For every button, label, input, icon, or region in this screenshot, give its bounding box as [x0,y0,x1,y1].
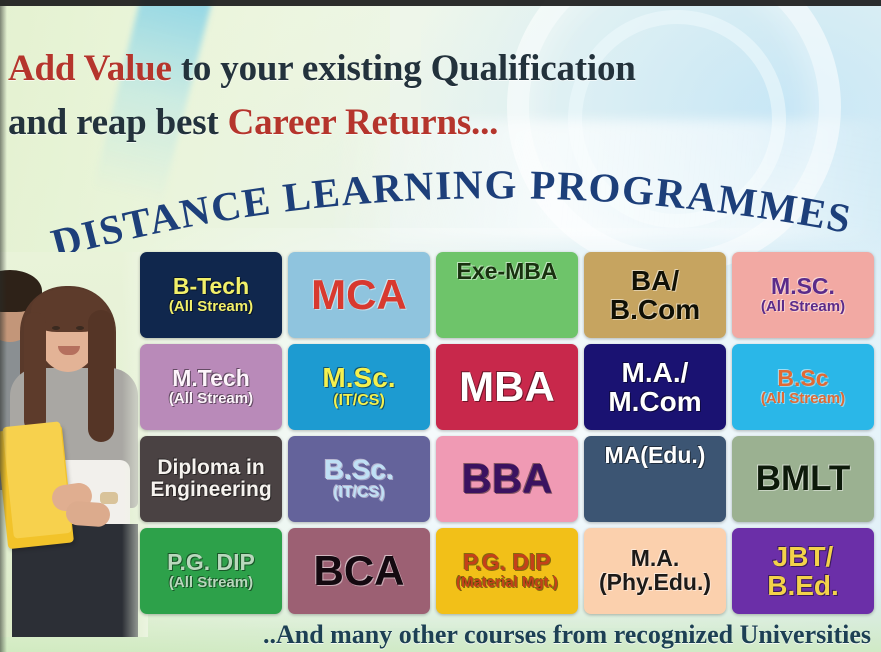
course-tile-subtitle: (IT/CS) [333,485,385,502]
photo-yellow-folder-top [2,421,71,538]
course-tile[interactable]: BA/B.Com [584,252,726,338]
course-tile-title: B.Sc. [324,456,394,485]
course-tile-grid: B-Tech(All Stream)MCAExe-MBABA/B.ComM.SC… [140,252,874,614]
photo-woman-hair-right [88,310,114,442]
course-tile[interactable]: BMLT [732,436,874,522]
course-tile-title: M.SC. [771,275,835,298]
course-tile-title: JBT/ [773,542,834,571]
course-tile[interactable]: MBA [436,344,578,430]
course-tile-title: MCA [311,274,407,317]
course-tile-title: M.A. [631,547,680,571]
course-tile[interactable]: BBA [436,436,578,522]
course-tile-subtitle: (All Stream) [761,299,845,315]
course-tile-subtitle: (All Stream) [169,391,253,407]
course-tile[interactable]: MA(Edu.) [584,436,726,522]
course-tile-title: B-Tech [173,275,249,298]
course-tile[interactable]: B.Sc.(IT/CS) [288,436,430,522]
headline-line2-prefix: and reap best [8,102,228,143]
arched-title-block: DISTANCE LEARNING PROGRAMMES [0,168,881,260]
course-tile[interactable]: B.Sc(All Stream) [732,344,874,430]
course-tile[interactable]: B-Tech(All Stream) [140,252,282,338]
footer-note: ..And many other courses from recognized… [0,620,881,650]
arched-title-text: DISTANCE LEARNING PROGRAMMES [46,168,855,260]
distance-learning-poster: Add Value to your existing Qualification… [0,0,881,652]
course-tile[interactable]: Exe-MBA [436,252,578,338]
photo-woman-hair-left [24,312,46,432]
course-tile-title: M.Tech [172,367,250,390]
course-tile[interactable]: M.A./M.Com [584,344,726,430]
course-tile[interactable]: MCA [288,252,430,338]
course-tile-subtitle: (All Stream) [169,575,253,591]
photo-woman-eye-right [76,326,84,330]
headline-line1-rest: to your existing Qualification [172,48,636,89]
course-tile-subtitle: (All Stream) [169,299,253,315]
headline-accent-career-returns: Career Returns... [228,102,499,143]
course-tile[interactable]: M.Tech(All Stream) [140,344,282,430]
course-tile-subtitle: B.Com [610,295,700,324]
course-tile-title: M.A./ [622,358,689,387]
course-tile-subtitle: M.Com [608,387,701,416]
course-tile-title: B.Sc [777,367,828,390]
course-tile-subtitle: (All Stream) [761,391,845,407]
course-tile-title: MBA [459,366,555,409]
course-tile[interactable]: M.A.(Phy.Edu.) [584,528,726,614]
course-tile[interactable]: P.G. DIP(Material Mgt.) [436,528,578,614]
course-tile[interactable]: P.G. DIP(All Stream) [140,528,282,614]
course-tile-subtitle: B.Ed. [767,571,839,600]
headline-accent-add-value: Add Value [8,48,172,89]
course-tile-title: Exe-MBA [457,260,558,283]
course-tile-title: M.Sc. [322,364,395,393]
course-tile[interactable]: M.Sc.(IT/CS) [288,344,430,430]
course-tile-title: BMLT [756,461,851,497]
course-tile[interactable]: Diploma inEngineering [140,436,282,522]
course-tile-title: BCA [314,550,405,593]
course-tile-subtitle: (Phy.Edu.) [599,571,711,595]
course-tile[interactable]: JBT/B.Ed. [732,528,874,614]
course-tile-title: Diploma in [157,457,264,479]
course-tile-subtitle: Engineering [150,479,271,501]
course-tile-title: BBA [462,458,553,501]
students-photo [0,252,148,637]
course-tile-title: P.G. DIP [463,551,551,574]
course-tile[interactable]: M.SC.(All Stream) [732,252,874,338]
poster-headline: Add Value to your existing Qualification… [8,42,878,150]
course-tile[interactable]: BCA [288,528,430,614]
photo-woman-hand-right [65,500,111,527]
course-tile-subtitle: (IT/CS) [333,393,385,410]
course-tile-title: BA/ [631,266,679,295]
top-black-strip [0,0,881,6]
course-tile-title: MA(Edu.) [605,444,706,467]
course-tile-subtitle: (Material Mgt.) [456,575,558,591]
photo-woman-eye-left [52,326,60,330]
photo-woman-bracelet [100,492,118,504]
course-tile-title: P.G. DIP [167,551,255,574]
